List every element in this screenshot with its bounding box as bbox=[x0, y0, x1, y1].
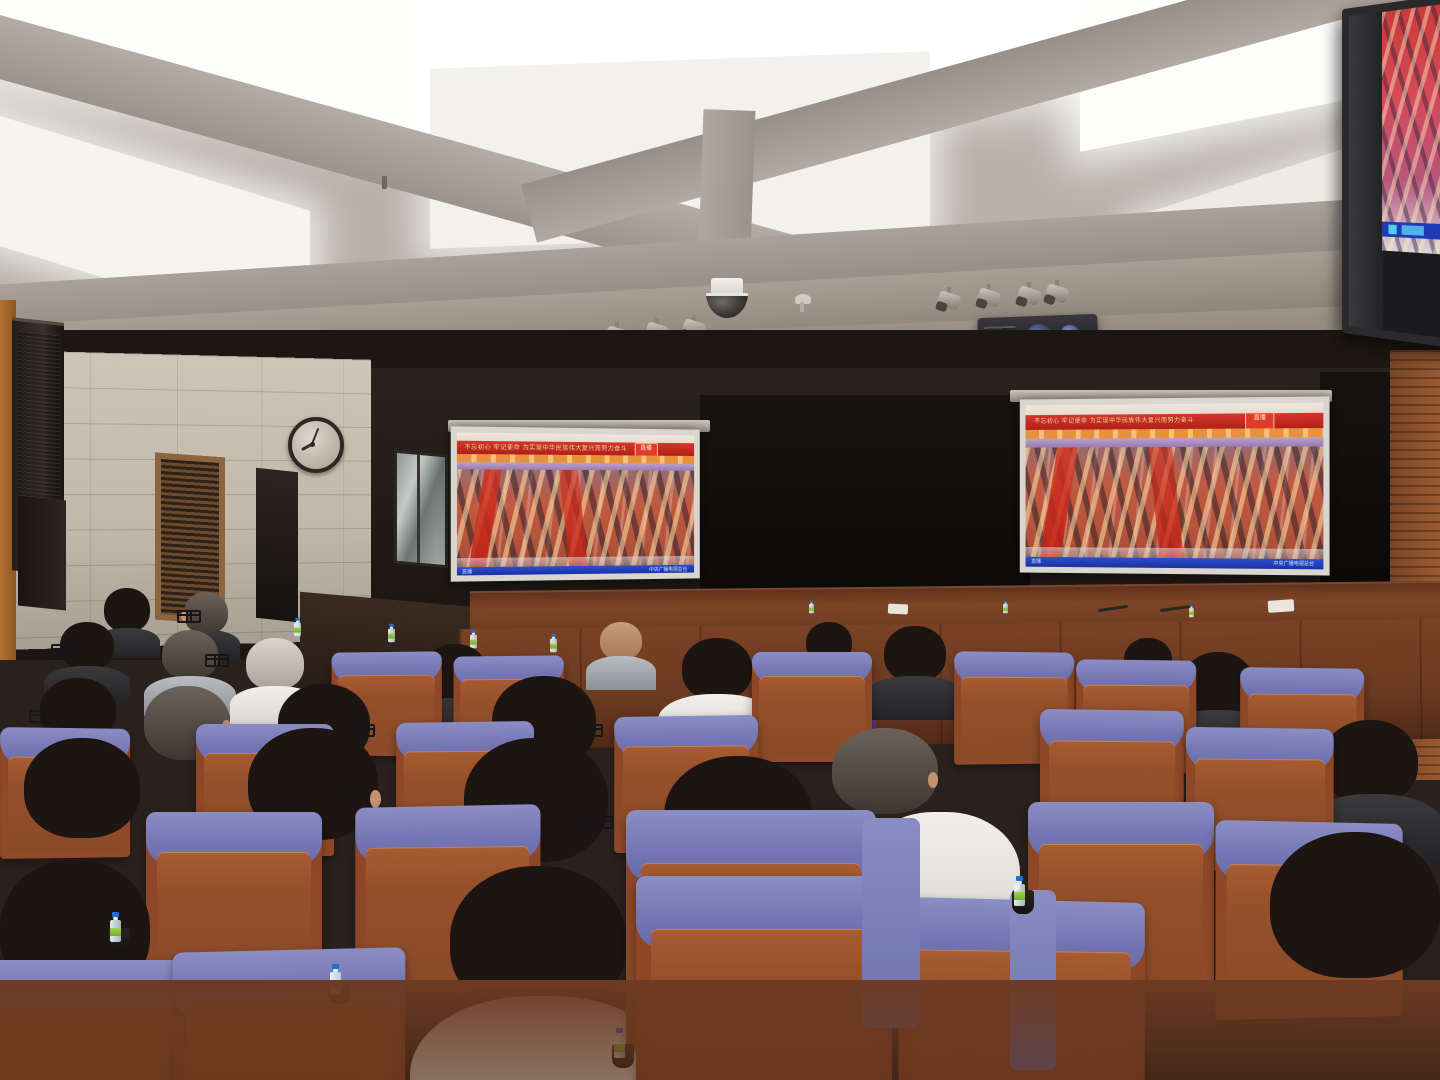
tv-broadcast-image bbox=[1382, 2, 1440, 255]
water-bottle bbox=[110, 912, 121, 942]
track-spotlight bbox=[978, 290, 1004, 310]
ceiling-sensor-icon bbox=[795, 294, 811, 304]
track-spotlight bbox=[1046, 286, 1072, 306]
broadcast-banner-text: 不忘初心 牢记使命 为实现中华民族伟大复兴而努力奋斗 bbox=[464, 442, 627, 453]
projection-screen-right: 不忘初心 牢记使命 为实现中华民族伟大复兴而努力奋斗 直播 直播 中央广播电视总… bbox=[1020, 396, 1330, 575]
track-spotlight bbox=[1018, 288, 1044, 308]
wall-window-panel bbox=[394, 450, 448, 569]
ceiling-hook bbox=[382, 176, 387, 189]
wall-mounted-tv bbox=[1342, 0, 1440, 350]
broadcast-banner-text: 不忘初心 牢记使命 为实现中华民族伟大复兴而努力奋斗 bbox=[1034, 415, 1194, 425]
broadcast-image-left: 不忘初心 牢记使命 为实现中华民族伟大复兴而努力奋斗 直播 直播 中央广播电视总… bbox=[457, 433, 694, 576]
broadcast-image-right: 不忘初心 牢记使命 为实现中华民族伟大复兴而努力奋斗 直播 直播 中央广播电视总… bbox=[1026, 403, 1324, 570]
floor bbox=[0, 980, 1440, 1080]
water-bottle bbox=[1014, 876, 1025, 906]
dome-security-camera-icon bbox=[705, 278, 749, 312]
projection-screen-left: 不忘初心 牢记使命 为实现中华民族伟大复兴而努力奋斗 直播 直播 中央广播电视总… bbox=[451, 426, 700, 581]
auditorium-photo: 不忘初心 牢记使命 为实现中华民族伟大复兴而努力奋斗 直播 直播 中央广播电视总… bbox=[0, 0, 1440, 1080]
wall-clock bbox=[288, 417, 344, 473]
track-spotlight bbox=[938, 293, 964, 313]
